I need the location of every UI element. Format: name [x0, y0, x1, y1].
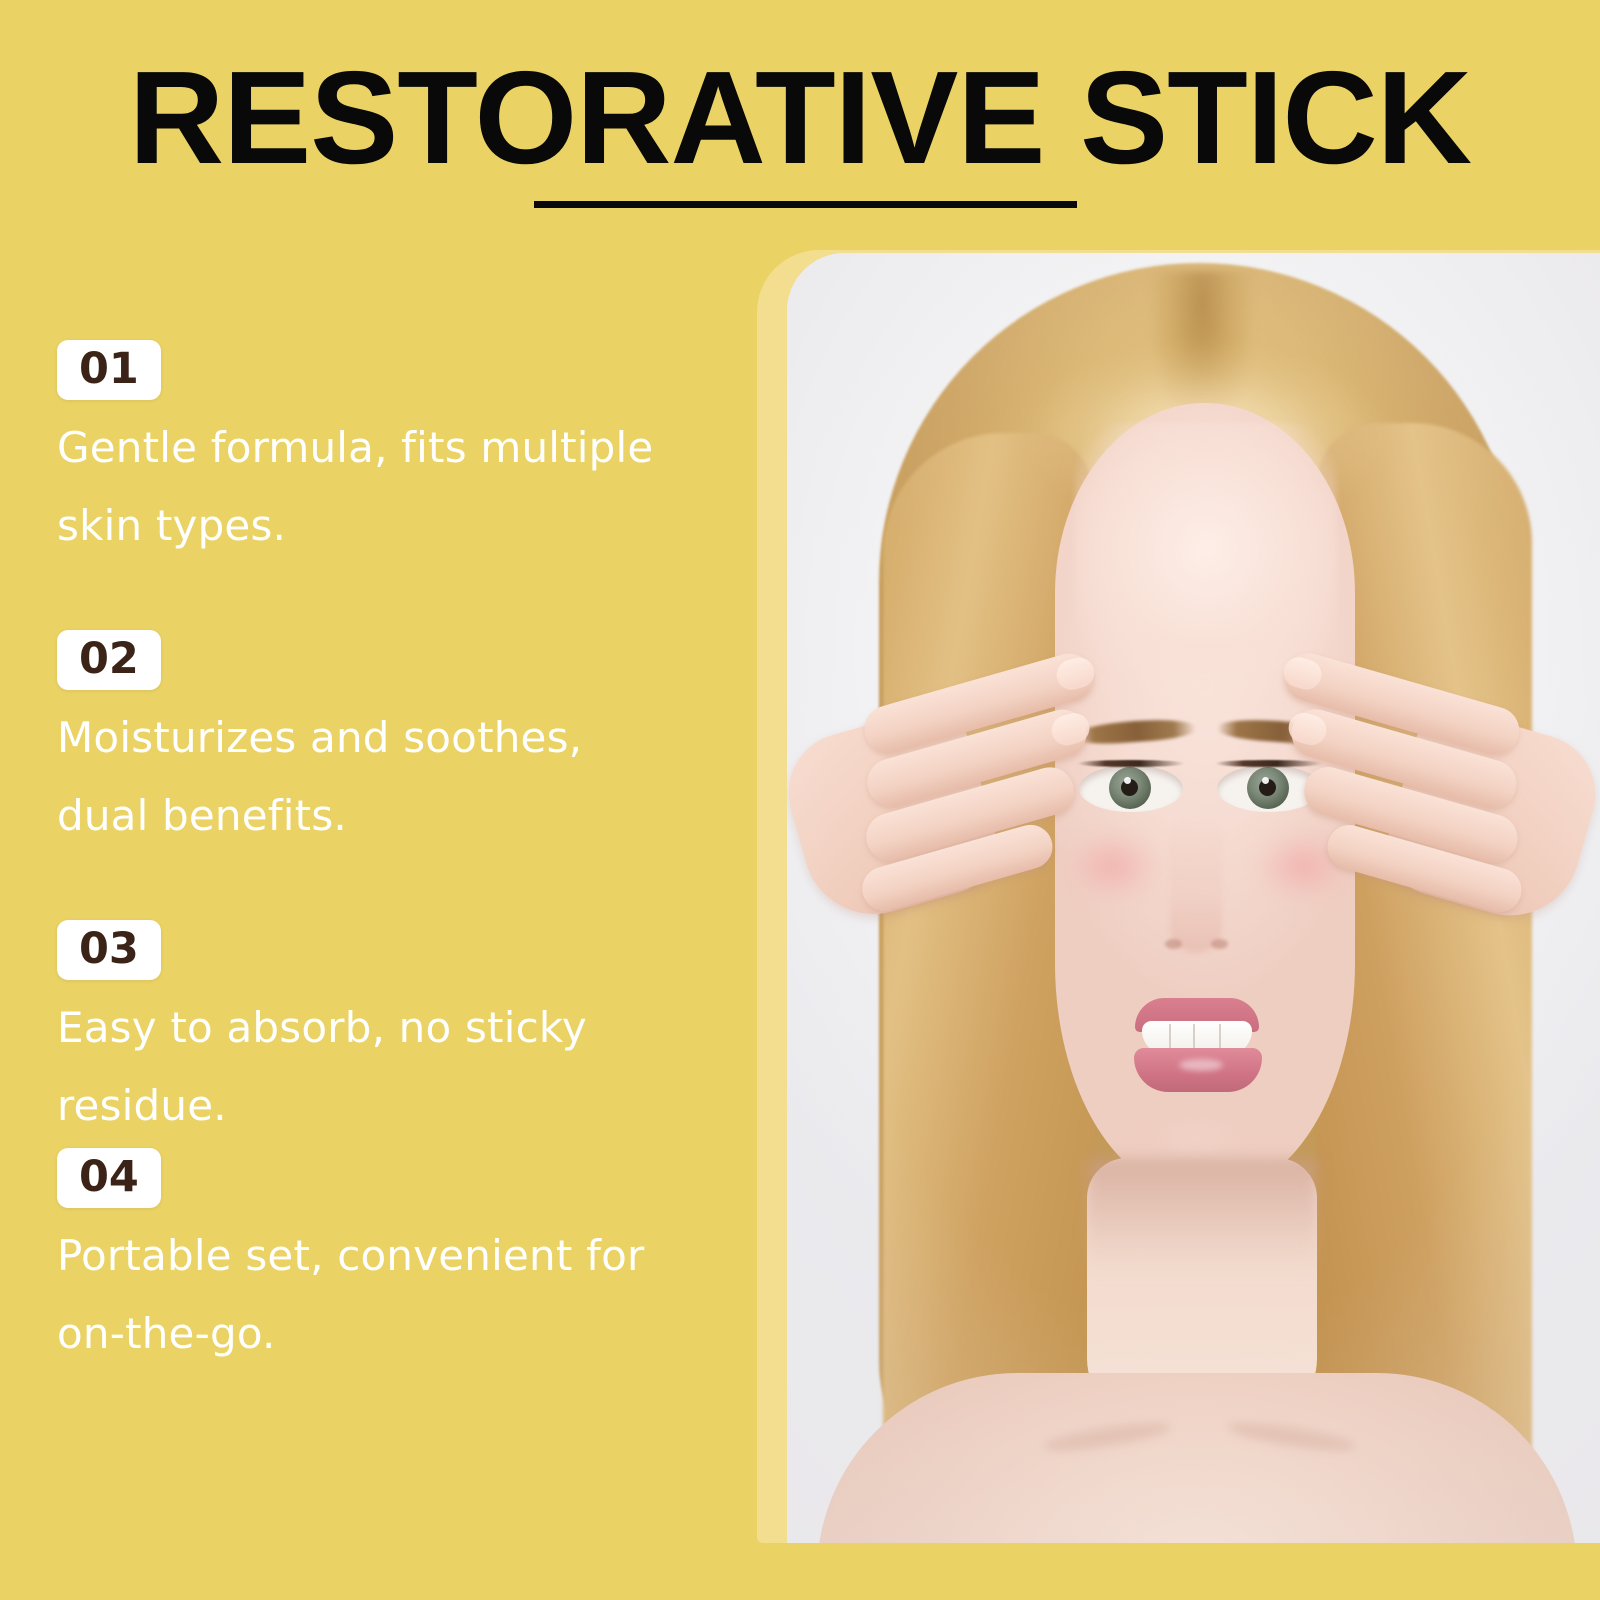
feature-number-badge-03: 03	[57, 920, 161, 980]
nose	[1170, 813, 1222, 953]
product-feature-poster: RESTORATIVE STICK	[0, 0, 1600, 1600]
nostril-left	[1165, 939, 1182, 949]
feature-text-03: Easy to absorb, no sticky residue.	[57, 989, 682, 1145]
product-model-photo	[787, 253, 1600, 1543]
feature-item-04: 04 Portable set, convenient for on-the-g…	[57, 1148, 697, 1373]
nostril-right	[1211, 939, 1228, 949]
neck-shadow	[1087, 1158, 1317, 1278]
feature-number-badge-02: 02	[57, 630, 161, 690]
feature-item-01: 01 Gentle formula, fits multiple skin ty…	[57, 340, 697, 565]
shoulders	[817, 1373, 1577, 1543]
tooth-gap	[1169, 1024, 1171, 1048]
lip-highlight	[1179, 1059, 1223, 1071]
feature-number-badge-01: 01	[57, 340, 161, 400]
feature-number-badge-04: 04	[57, 1148, 161, 1208]
tooth-gap	[1219, 1024, 1221, 1048]
feature-list: 01 Gentle formula, fits multiple skin ty…	[0, 0, 740, 1600]
feature-text-04: Portable set, convenient for on-the-go.	[57, 1217, 682, 1373]
feature-item-02: 02 Moisturizes and soothes, dual benefit…	[57, 630, 697, 855]
feature-text-02: Moisturizes and soothes, dual benefits.	[57, 699, 682, 855]
feature-text-01: Gentle formula, fits multiple skin types…	[57, 409, 682, 565]
tooth-gap	[1193, 1024, 1195, 1048]
feature-item-03: 03 Easy to absorb, no sticky residue.	[57, 920, 697, 1145]
